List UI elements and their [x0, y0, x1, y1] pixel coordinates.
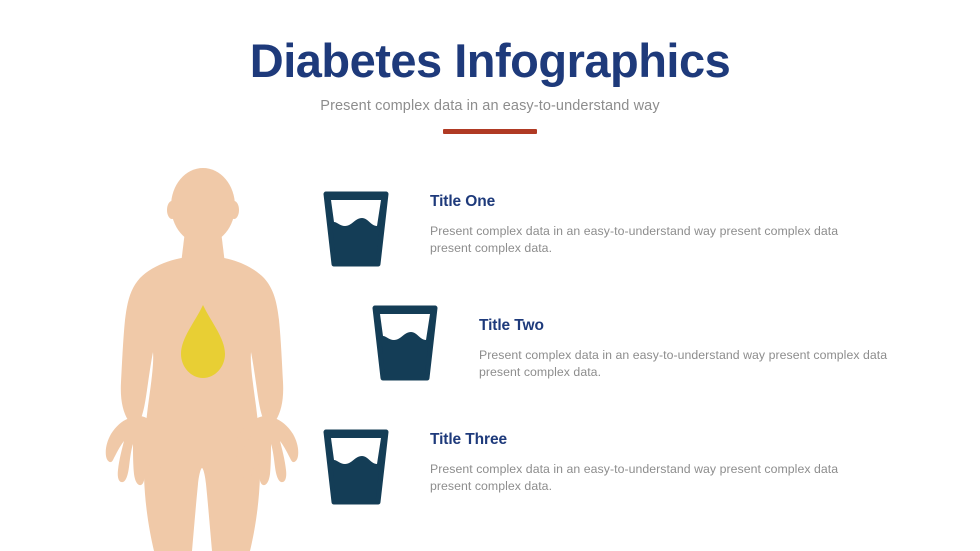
- list-item-title: Title Two: [479, 317, 924, 336]
- list-item-text: Title One Present complex data in an eas…: [430, 193, 875, 258]
- list-item-body: Present complex data in an easy-to-under…: [430, 223, 875, 258]
- water-glass-icon: [322, 190, 390, 268]
- list-item-title: Title Three: [430, 431, 875, 450]
- slide-canvas: Diabetes Infographics Present complex da…: [0, 0, 980, 551]
- list-item-title: Title One: [430, 193, 875, 212]
- list-item-text: Title Two Present complex data in an eas…: [479, 317, 924, 382]
- water-glass-icon: [371, 304, 439, 382]
- slide-header: Diabetes Infographics Present complex da…: [0, 36, 980, 134]
- water-glass-icon: [322, 428, 390, 506]
- list-item-body: Present complex data in an easy-to-under…: [479, 347, 924, 382]
- human-body-illustration: [78, 168, 328, 551]
- list-item-text: Title Three Present complex data in an e…: [430, 431, 875, 496]
- accent-divider: [443, 129, 537, 134]
- page-subtitle: Present complex data in an easy-to-under…: [0, 98, 980, 115]
- page-title: Diabetes Infographics: [0, 36, 980, 86]
- list-item-body: Present complex data in an easy-to-under…: [430, 461, 875, 496]
